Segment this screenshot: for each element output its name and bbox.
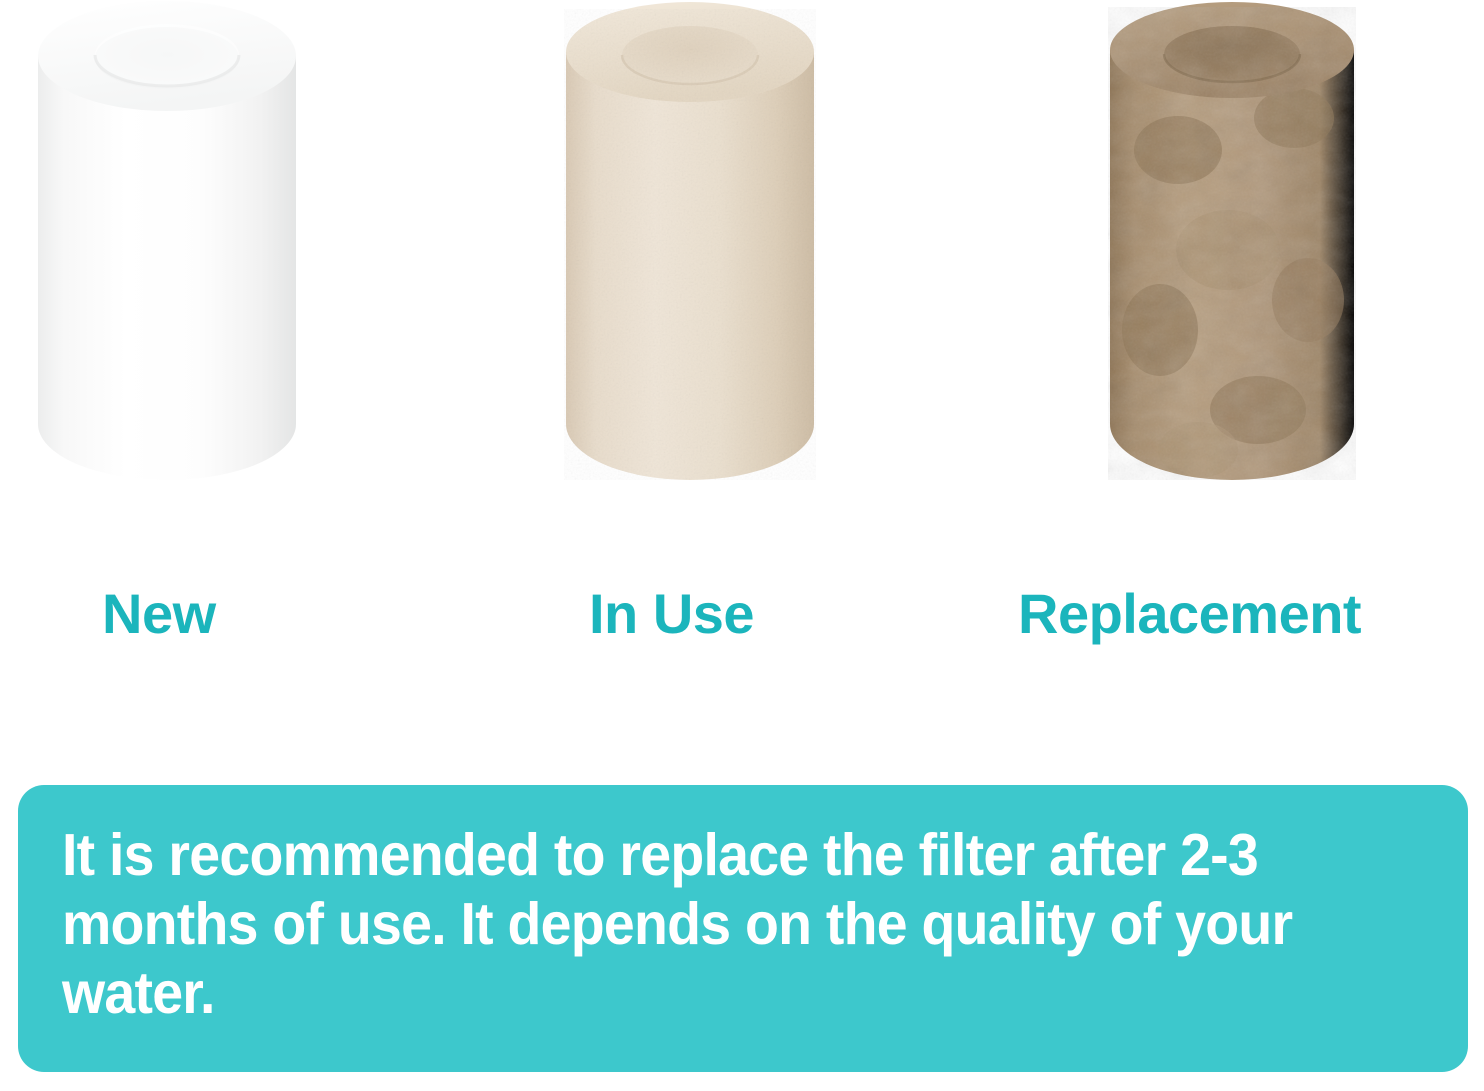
cartridge-label-replacement: Replacement	[1018, 586, 1361, 642]
filter-cartridge-new-icon	[36, 0, 298, 480]
cartridge-row	[0, 0, 1484, 500]
cartridge-label-in-use: In Use	[589, 586, 754, 642]
cartridge-replacement	[1108, 0, 1356, 480]
filter-cartridge-replacement-icon	[1108, 0, 1356, 480]
cartridge-new	[36, 0, 298, 480]
filter-cartridge-in-use-icon	[564, 0, 816, 480]
filter-comparison-infographic: New In Use Replacement It is recommended…	[0, 0, 1484, 1091]
cartridge-in-use	[564, 0, 816, 480]
cartridge-label-new: New	[102, 586, 216, 642]
recommendation-banner: It is recommended to replace the filter …	[18, 785, 1468, 1072]
recommendation-text: It is recommended to replace the filter …	[62, 821, 1342, 1028]
